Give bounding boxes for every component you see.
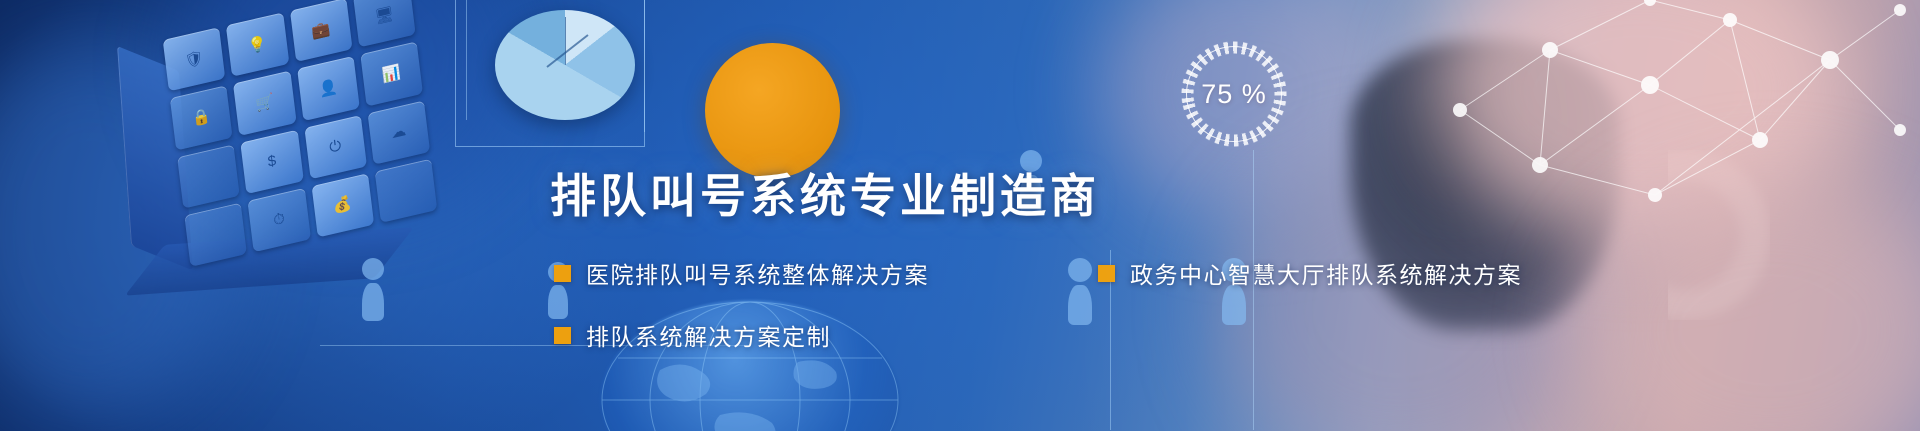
grid-icon bbox=[177, 144, 240, 209]
bag-icon: 💰 bbox=[311, 173, 374, 238]
bullet-marker-icon bbox=[1098, 265, 1115, 282]
lightbulb-icon: 💡 bbox=[226, 12, 289, 77]
bullet-custom: 排队系统解决方案定制 bbox=[554, 318, 831, 352]
bullet-gov-label: 政务中心智慧大厅排队系统解决方案 bbox=[1130, 256, 1522, 290]
network-nodes-icon bbox=[1400, 0, 1920, 230]
monitor-icon: 🖥 bbox=[353, 0, 416, 48]
promo-banner: 🛡 💡 💼 🖥 🔒 🛒 👤 📊 $ ⏻ ☁ ⏱ 💰 75 % bbox=[0, 0, 1920, 431]
cloud-icon: ☁ bbox=[367, 100, 430, 165]
bullet-hospital: 医院排队叫号系统整体解决方案 bbox=[554, 256, 929, 290]
shield-icon: 🛡 bbox=[163, 27, 226, 92]
progress-gauge: 75 % bbox=[1178, 38, 1290, 150]
app-icon-cube: 🛡 💡 💼 🖥 🔒 🛒 👤 📊 $ ⏻ ☁ ⏱ 💰 bbox=[167, 2, 432, 249]
person-icon bbox=[1068, 258, 1092, 325]
bullet-marker-icon bbox=[554, 265, 571, 282]
briefcase-icon: 💼 bbox=[289, 0, 352, 62]
bullet-gov: 政务中心智慧大厅排队系统解决方案 bbox=[1098, 256, 1522, 290]
cart-icon: 🛒 bbox=[233, 71, 296, 136]
page-title: 排队叫号系统专业制造商 bbox=[550, 160, 1100, 226]
grid-icon bbox=[374, 158, 437, 223]
bar-chart-icon: 📊 bbox=[360, 42, 423, 107]
user-icon: 👤 bbox=[297, 56, 360, 121]
bullet-marker-icon bbox=[554, 327, 571, 344]
person-icon bbox=[362, 258, 384, 321]
orange-circle-icon bbox=[705, 43, 840, 178]
power-icon: ⏻ bbox=[304, 115, 367, 180]
bullet-hospital-label: 医院排队叫号系统整体解决方案 bbox=[586, 256, 929, 290]
gauge-percent-label: 75 % bbox=[1178, 38, 1290, 150]
pie-chart-icon bbox=[495, 10, 635, 120]
lock-icon: 🔒 bbox=[170, 85, 233, 150]
dollar-icon: $ bbox=[240, 129, 303, 194]
bullet-custom-label: 排队系统解决方案定制 bbox=[586, 318, 831, 352]
guide-line-vertical bbox=[1253, 150, 1254, 430]
